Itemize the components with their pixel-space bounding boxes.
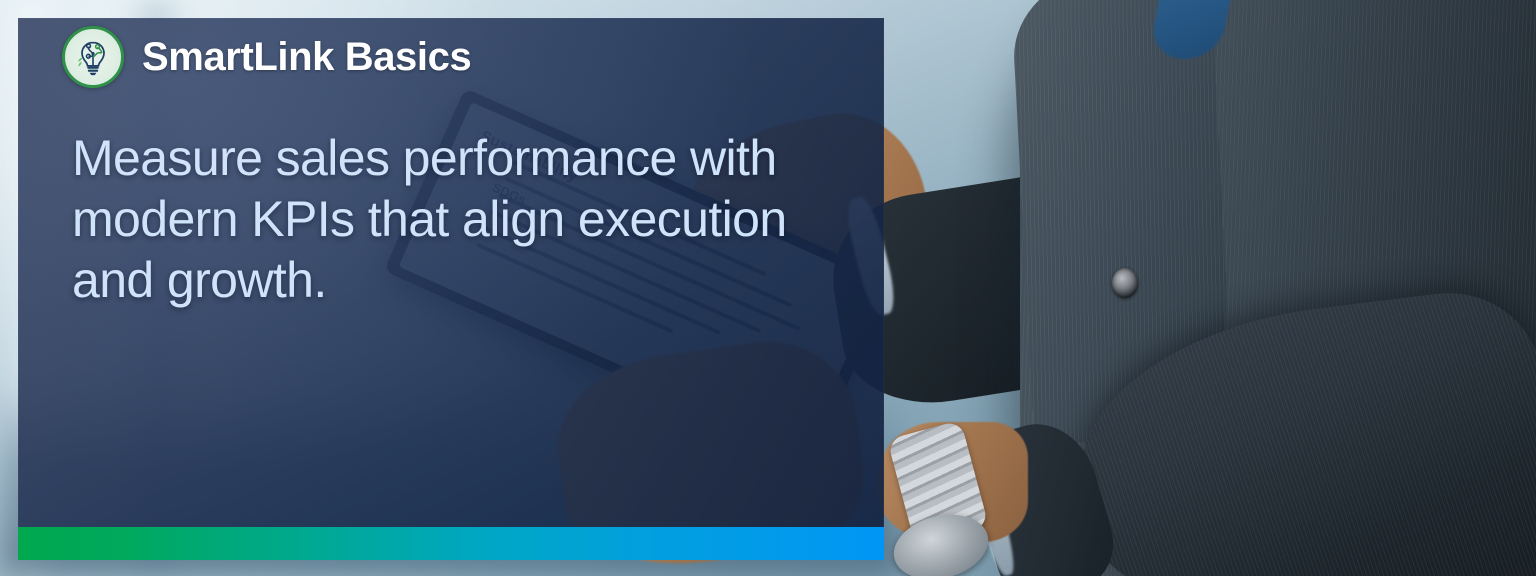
accent-gradient-bar	[18, 527, 884, 560]
lightbulb-circuit-icon	[62, 26, 124, 88]
banner: Sustainability SDGs	[0, 0, 1536, 576]
suit-button	[1112, 268, 1138, 298]
headline: Measure sales performance with modern KP…	[72, 128, 832, 311]
brand-name: SmartLink Basics	[142, 35, 471, 80]
brand-row: SmartLink Basics	[62, 26, 471, 88]
